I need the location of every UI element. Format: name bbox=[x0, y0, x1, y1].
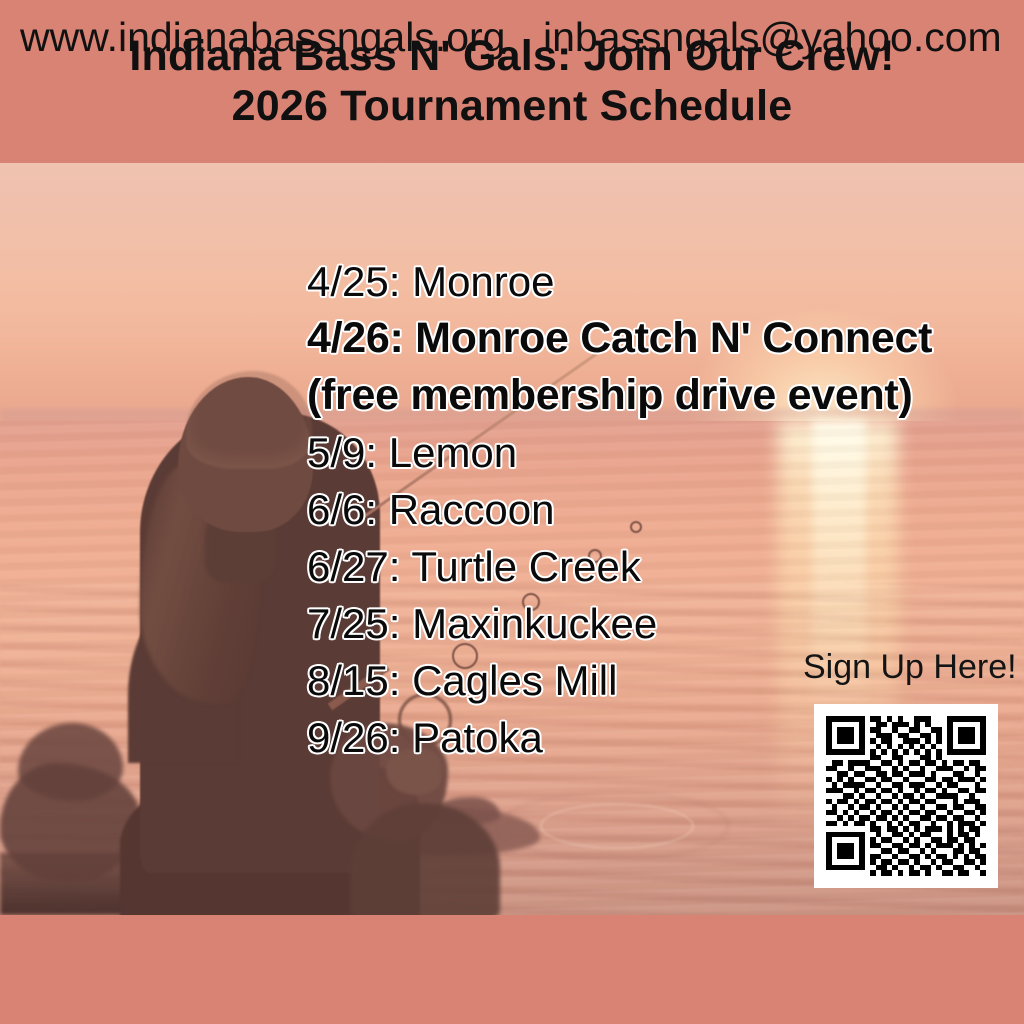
footer-band bbox=[0, 915, 1024, 1024]
schedule-entry: 4/25: Monroe bbox=[307, 253, 1019, 310]
water-ring bbox=[500, 791, 729, 861]
qr-code-matrix bbox=[826, 716, 986, 876]
schedule-entry: 7/25: Maxinkuckee bbox=[307, 595, 1019, 652]
poster-canvas: Indiana Bass N' Gals: Join Our Crew! 202… bbox=[0, 0, 1024, 1024]
tournament-schedule-list: 4/25: Monroe4/26: Monroe Catch N' Connec… bbox=[307, 253, 1019, 766]
page-title-line2: 2026 Tournament Schedule bbox=[232, 84, 793, 130]
schedule-entry: 4/26: Monroe Catch N' Connect bbox=[307, 310, 1019, 367]
schedule-entry: 6/27: Turtle Creek bbox=[307, 538, 1019, 595]
email-link[interactable]: inbassngals@yahoo.com bbox=[543, 14, 1002, 61]
schedule-entry: 6/6: Raccoon bbox=[307, 481, 1019, 538]
qr-code[interactable] bbox=[814, 704, 998, 888]
signup-label: Sign Up Here! bbox=[803, 648, 1017, 687]
silhouette-hair-top bbox=[186, 371, 312, 469]
website-link[interactable]: www.indianabassngals.org bbox=[20, 14, 505, 61]
schedule-entry: (free membership drive event) bbox=[307, 367, 1019, 424]
schedule-entry: 5/9: Lemon bbox=[307, 424, 1019, 481]
